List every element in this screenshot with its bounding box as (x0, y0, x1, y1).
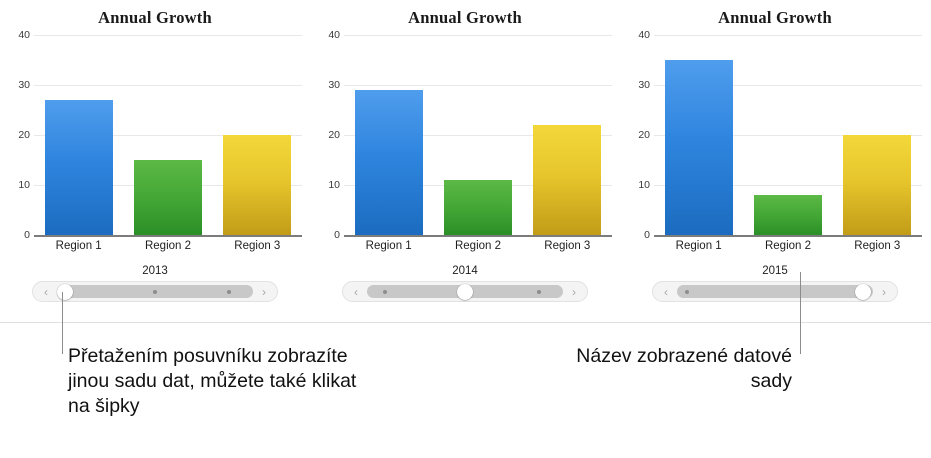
slider-thumb[interactable] (855, 284, 871, 300)
bar (533, 125, 601, 235)
x-axis-labels: Region 1Region 2Region 3 (344, 240, 612, 252)
y-axis-tick-label: 10 (18, 179, 30, 191)
bar-slot (743, 35, 832, 235)
dataset-name-label: 2013 (0, 265, 310, 277)
bar (223, 135, 291, 235)
callout-text-slider: Přetažením posuvníku zobrazíte jinou sad… (68, 344, 368, 419)
bar-slot (433, 35, 522, 235)
chevron-right-icon[interactable]: › (255, 286, 273, 298)
bar (45, 100, 113, 235)
y-axis-tick-label: 20 (638, 129, 650, 141)
charts-row: Annual Growth403020100Region 1Region 2Re… (0, 0, 931, 320)
chevron-left-icon[interactable]: ‹ (657, 286, 675, 298)
bar (754, 195, 822, 235)
plot-area: 403020100 (620, 35, 930, 235)
bar-slot (523, 35, 612, 235)
chart-title: Annual Growth (310, 7, 620, 29)
bar-slot (344, 35, 433, 235)
y-axis-tick-label: 40 (328, 29, 340, 41)
axis-baseline (654, 235, 922, 237)
x-axis-category-label: Region 1 (344, 240, 433, 252)
bars-group (344, 35, 612, 235)
y-axis-tick-label: 0 (24, 229, 30, 241)
dataset-name-label: 2015 (620, 265, 930, 277)
x-axis-category-label: Region 3 (523, 240, 612, 252)
bars-group (34, 35, 302, 235)
slider-tick-dot (685, 290, 689, 294)
bar (355, 90, 423, 235)
y-axis-tick-label: 30 (328, 79, 340, 91)
slider-track[interactable] (677, 285, 873, 298)
y-axis-tick-label: 20 (328, 129, 340, 141)
bar (843, 135, 911, 235)
y-axis-tick-label: 10 (638, 179, 650, 191)
callout-leader-line-right (800, 272, 801, 354)
slider-tick-dot (537, 290, 541, 294)
x-axis-category-label: Region 3 (833, 240, 922, 252)
chart-panel: Annual Growth403020100Region 1Region 2Re… (310, 0, 620, 320)
slider-tick-dot (153, 290, 157, 294)
slider-tick-dot (383, 290, 387, 294)
slider-tick-dot (227, 290, 231, 294)
plot-area: 403020100 (310, 35, 620, 235)
y-axis-tick-label: 0 (644, 229, 650, 241)
x-axis-category-label: Region 1 (34, 240, 123, 252)
x-axis-category-label: Region 3 (213, 240, 302, 252)
chart-title: Annual Growth (620, 7, 930, 29)
x-axis-category-label: Region 1 (654, 240, 743, 252)
y-axis-tick-label: 10 (328, 179, 340, 191)
dataset-name-label: 2014 (310, 265, 620, 277)
dataset-slider[interactable]: ‹› (652, 281, 898, 302)
axis-baseline (344, 235, 612, 237)
axis-baseline (34, 235, 302, 237)
dataset-slider[interactable]: ‹› (342, 281, 588, 302)
chart-panel: Annual Growth403020100Region 1Region 2Re… (0, 0, 310, 320)
bar-slot (654, 35, 743, 235)
bar (444, 180, 512, 235)
chart-panel: Annual Growth403020100Region 1Region 2Re… (620, 0, 930, 320)
chevron-right-icon[interactable]: › (875, 286, 893, 298)
chart-title: Annual Growth (0, 7, 310, 29)
y-axis-tick-label: 0 (334, 229, 340, 241)
chevron-left-icon[interactable]: ‹ (347, 286, 365, 298)
x-axis-category-label: Region 2 (123, 240, 212, 252)
bar-slot (213, 35, 302, 235)
slider-track[interactable] (367, 285, 563, 298)
bar-slot (34, 35, 123, 235)
slider-thumb[interactable] (457, 284, 473, 300)
chevron-right-icon[interactable]: › (565, 286, 583, 298)
x-axis-category-label: Region 2 (743, 240, 832, 252)
x-axis-category-label: Region 2 (433, 240, 522, 252)
callout-leader-line-left (62, 292, 63, 354)
slider-thumb[interactable] (57, 284, 73, 300)
y-axis-tick-label: 30 (638, 79, 650, 91)
x-axis-labels: Region 1Region 2Region 3 (654, 240, 922, 252)
y-axis-tick-label: 40 (18, 29, 30, 41)
bar-slot (123, 35, 212, 235)
slider-track[interactable] (57, 285, 253, 298)
bar-slot (833, 35, 922, 235)
y-axis-tick-label: 40 (638, 29, 650, 41)
x-axis-labels: Region 1Region 2Region 3 (34, 240, 302, 252)
bar (665, 60, 733, 235)
bar (134, 160, 202, 235)
bars-group (654, 35, 922, 235)
plot-area: 403020100 (0, 35, 310, 235)
chevron-left-icon[interactable]: ‹ (37, 286, 55, 298)
y-axis-tick-label: 30 (18, 79, 30, 91)
callout-text-dataset-name: Název zobrazené datové sady (540, 344, 792, 394)
dataset-slider[interactable]: ‹› (32, 281, 278, 302)
y-axis-tick-label: 20 (18, 129, 30, 141)
section-divider (0, 322, 931, 323)
